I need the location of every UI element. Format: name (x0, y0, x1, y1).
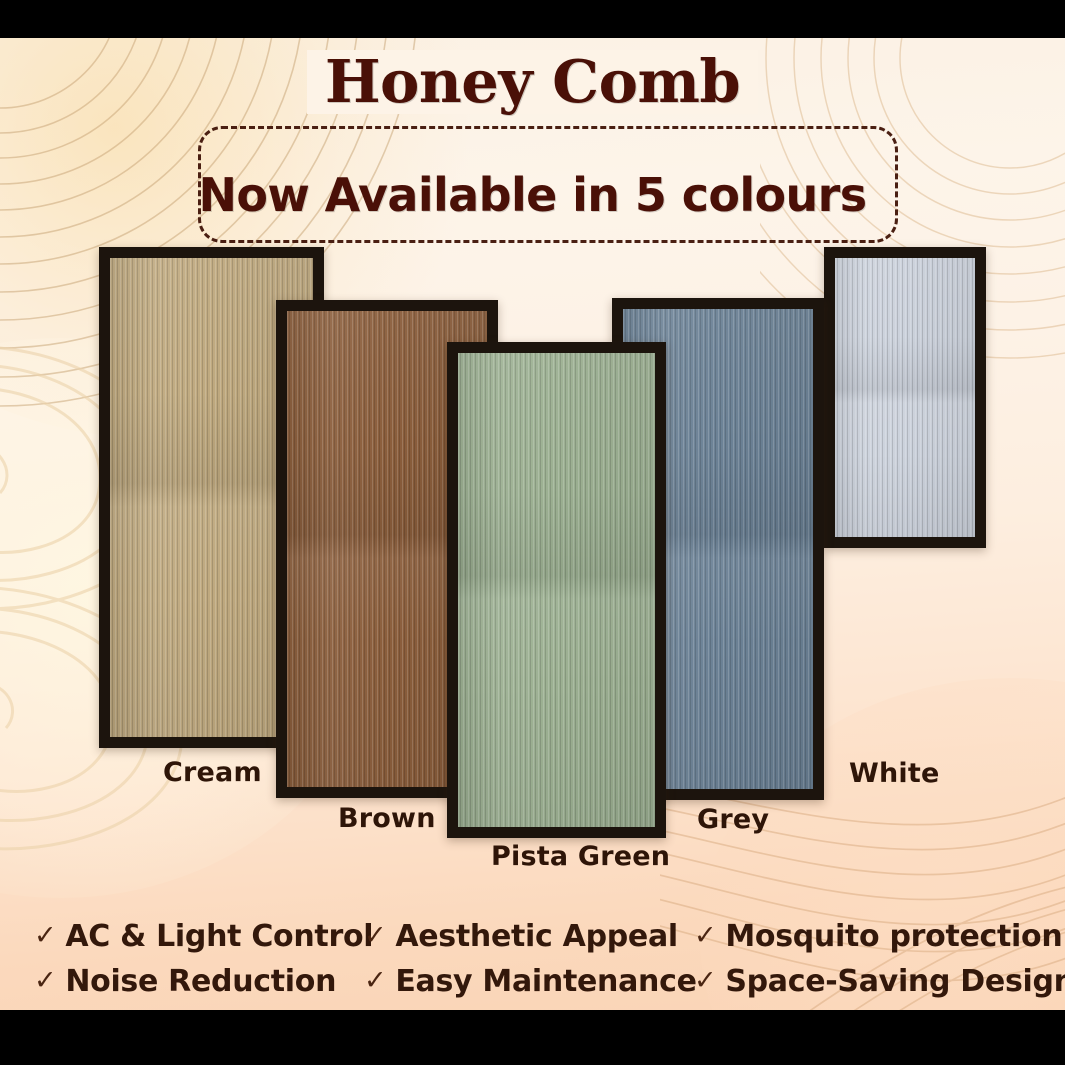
feature-item: ✓ Mosquito protection (694, 919, 1034, 954)
check-icon: ✓ (694, 967, 716, 994)
feature-item: ✓ Aesthetic Appeal (364, 919, 694, 954)
feature-list: ✓ AC & Light Control ✓ Aesthetic Appeal … (34, 914, 1034, 1004)
check-icon: ✓ (364, 967, 386, 994)
swatch-label-brown: Brown (338, 803, 436, 834)
check-icon: ✓ (34, 967, 56, 994)
check-icon: ✓ (694, 922, 716, 949)
feature-label: AC & Light Control (65, 919, 373, 954)
feature-label: Easy Maintenance (395, 964, 696, 999)
poster-stage: Honey Comb Now Available in 5 colours Cr… (0, 0, 1065, 1065)
swatch-label-cream: Cream (163, 757, 262, 788)
check-icon: ✓ (364, 922, 386, 949)
swatch-panel-white[interactable] (824, 247, 986, 548)
feature-label: Space-Saving Design (725, 964, 1065, 999)
swatch-label-pista-green: Pista Green (491, 841, 670, 872)
feature-label: Aesthetic Appeal (395, 919, 678, 954)
swatch-face-white (835, 258, 975, 537)
poster-canvas: Honey Comb Now Available in 5 colours Cr… (0, 38, 1065, 1010)
letterbox-bar-top (0, 0, 1065, 38)
swatch-label-grey: Grey (697, 804, 769, 835)
feature-label: Mosquito protection (725, 919, 1062, 954)
feature-item: ✓ Space-Saving Design (694, 964, 1034, 999)
swatch-panel-pista-green[interactable] (447, 342, 666, 838)
check-icon: ✓ (34, 922, 56, 949)
feature-item: ✓ AC & Light Control (34, 919, 364, 954)
feature-item: ✓ Noise Reduction (34, 964, 364, 999)
page-subtitle: Now Available in 5 colours (0, 168, 1065, 222)
feature-item: ✓ Easy Maintenance (364, 964, 694, 999)
swatch-face-pista-green (458, 353, 655, 827)
feature-label: Noise Reduction (65, 964, 336, 999)
letterbox-bar-bottom (0, 1010, 1065, 1065)
page-title: Honey Comb (307, 50, 758, 114)
page-title-wrap: Honey Comb (0, 50, 1065, 114)
swatch-label-white: White (849, 758, 939, 789)
